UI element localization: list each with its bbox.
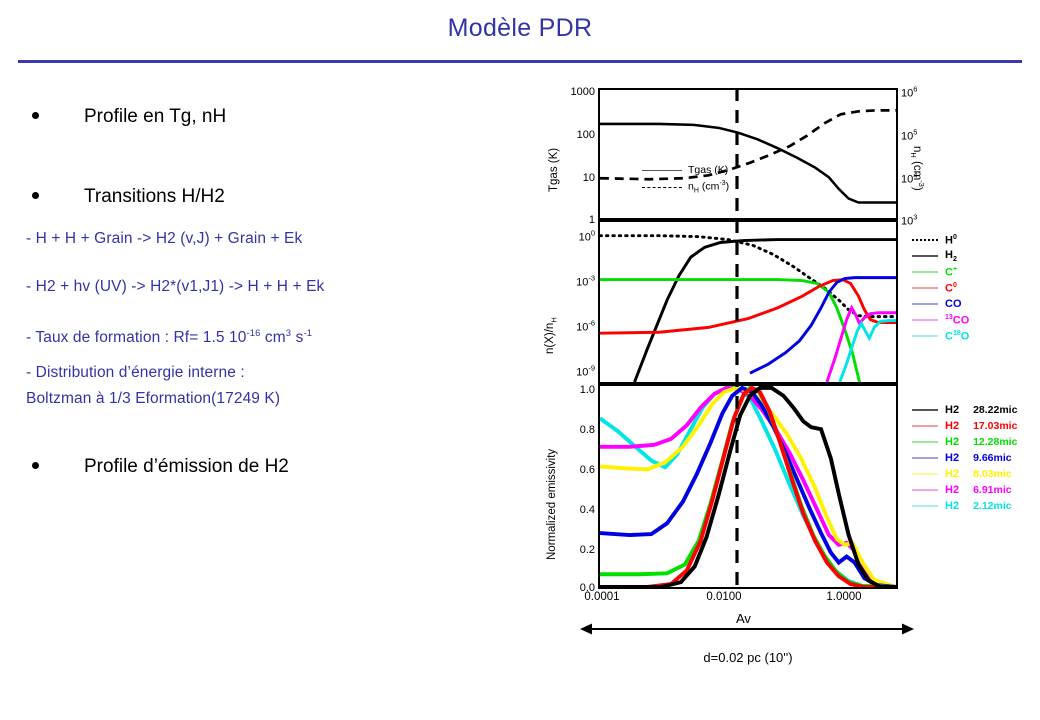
ytick-top-right-1e6: 106 (901, 85, 917, 100)
legend-entry-h2-212: H2 2.12mic (912, 498, 1017, 514)
formation-rate-line: - Taux de formation : Rf= 1.5 10-16 cm3 … (26, 328, 312, 347)
boltzman-line: Boltzman à 1/3 Eformation(17249 K) (26, 390, 280, 408)
series-13co-line (827, 308, 896, 382)
legend-swatch-h2-803-icon (912, 473, 938, 475)
legend-entry-h2-691: H2 6.91mic (912, 482, 1017, 498)
legend-entry-c0: C0 (912, 280, 969, 296)
ytick-top-1000: 1000 (571, 86, 595, 98)
legend-swatch-c0-icon (912, 287, 938, 289)
panel-mid-plot-area (600, 222, 896, 382)
legend-entry-h2: H2 (912, 248, 969, 264)
page-title: Modèle PDR (0, 14, 1040, 43)
legend-swatch-c18o-icon (912, 335, 938, 337)
bullet-item-profile-tg-nh: Profile en Tg, nH (32, 106, 226, 128)
chart-panel-abundances: 100 10-3 10-6 10-9 (598, 220, 898, 384)
figure-caption: d=0.02 pc (10'') (598, 650, 898, 665)
formation-rate-prefix: - Taux de formation : Rf= 1.5 10 (26, 329, 246, 346)
legend-entry-h2-1228: H2 12.28mic (912, 434, 1017, 450)
legend-swatch-h2-1703-icon (912, 425, 938, 427)
legend-value-h2-212: 2.12mic (973, 500, 1012, 512)
ytick-mid-1e0: 100 (579, 229, 595, 244)
axis-label-nh-right: nH (cm-3) (909, 146, 926, 191)
legend-entry-h2-1703: H2 17.03mic (912, 418, 1017, 434)
legend-label-h2-966: H2 (945, 452, 959, 464)
chart-panel-emissivity: 1.0 0.8 0.6 0.4 0.2 0.0 0.0001 0.0100 1.… (598, 384, 898, 589)
slide-root: Modèle PDR Profile en Tg, nH Transitions… (0, 0, 1040, 720)
legend-label-13co: 13CO (945, 314, 969, 327)
ytick-bot-0p8: 0.8 (580, 424, 595, 436)
ytick-top-right-1e3: 103 (901, 213, 917, 228)
formation-rate-s-exponent: -1 (303, 328, 312, 339)
legend-entry-13co: 13CO (912, 312, 969, 328)
axis-label-emissivity: Normalized emissivity (546, 449, 558, 560)
legend-swatch-h2-212-icon (912, 505, 938, 507)
legend-swatch-dashed-icon (642, 187, 682, 188)
ytick-top-100: 100 (577, 129, 595, 141)
xtick-0p0001: 0.0001 (584, 591, 619, 603)
legend-entry-h2-966: H2 9.66mic (912, 450, 1017, 466)
axis-label-abundance: n(X)/nH (544, 317, 558, 354)
legend-entry-cplus: C+ (912, 264, 969, 280)
legend-label-cplus: C+ (945, 266, 957, 279)
panel-bottom-svg (600, 386, 896, 587)
formation-rate-exponent: -16 (246, 328, 260, 339)
bullet-label: Transitions H/H2 (84, 186, 225, 208)
ytick-bot-0p4: 0.4 (580, 504, 595, 516)
bullet-dot-icon (32, 112, 39, 119)
legend-entry-tgas: Tgas (K) (642, 164, 729, 177)
legend-swatch-h2-691-icon (912, 489, 938, 491)
panel-top-svg (600, 90, 896, 218)
panel-mid-legend: H0 H2 C+ C0 CO 13CO (912, 232, 969, 344)
bullet-label: Profile d’émission de H2 (84, 456, 289, 478)
ytick-top-right-1e5: 105 (901, 128, 917, 143)
pdr-model-figure: 1000 100 10 1 106 105 104 103 Tgas (K) n… (524, 84, 1024, 674)
legend-label-h2-1228: H2 (945, 436, 959, 448)
reaction-line-formation: - H + H + Grain -> H2 (v,J) + Grain + Ek (26, 230, 302, 248)
ytick-top-1: 1 (589, 214, 595, 226)
legend-swatch-h0-icon (912, 239, 938, 241)
axis-label-tgas: Tgas (K) (548, 148, 560, 192)
bullet-dot-icon (32, 462, 39, 469)
legend-label-h2-1703: H2 (945, 420, 959, 432)
panel-mid-svg (600, 222, 896, 382)
series-h2-803-line (600, 388, 896, 587)
legend-label-h2-212: H2 (945, 500, 959, 512)
bullet-item-transitions: Transitions H/H2 (32, 186, 225, 208)
legend-swatch-h2-icon (912, 255, 938, 257)
legend-label-h0: H0 (945, 234, 957, 247)
legend-swatch-solid-icon (642, 170, 682, 171)
series-h2-1703-line (600, 388, 896, 587)
bullet-item-emission-profile: Profile d’émission de H2 (32, 456, 289, 478)
series-h2-212-line (600, 388, 896, 587)
xtick-0p0100: 0.0100 (706, 591, 741, 603)
energy-distribution-line: - Distribution d’énergie interne : (26, 364, 245, 382)
ytick-bot-1p0: 1.0 (580, 384, 595, 396)
legend-entry-co: CO (912, 296, 969, 312)
series-c18o-line (840, 321, 896, 382)
legend-label-c18o: C18O (945, 330, 969, 343)
series-co-line (750, 278, 896, 374)
formation-rate-unit-cm: cm (261, 329, 286, 346)
series-h2-1228-line (600, 388, 896, 587)
legend-value-h2-803: 8.03mic (973, 468, 1012, 480)
legend-swatch-h2-2822-icon (912, 409, 938, 411)
title-divider (18, 60, 1022, 63)
panel-top-plot-area (600, 90, 896, 218)
legend-label-co: CO (945, 298, 962, 310)
content-text-column: Profile en Tg, nH Transitions H/H2 - H +… (22, 102, 522, 522)
ytick-bot-0p2: 0.2 (580, 544, 595, 556)
legend-swatch-13co-icon (912, 319, 938, 321)
panel-bottom-legend: H2 28.22mic H2 17.03mic H2 12.28mic H2 9… (912, 402, 1017, 514)
extent-double-arrow-icon (580, 622, 914, 636)
legend-entry-c18o: C18O (912, 328, 969, 344)
legend-value-h2-691: 6.91mic (973, 484, 1012, 496)
bullet-dot-icon (32, 192, 39, 199)
legend-label-h2-691: H2 (945, 484, 959, 496)
panel-bottom-plot-area (600, 386, 896, 587)
legend-label-c0: C0 (945, 282, 957, 295)
legend-entry-h2-803: H2 8.03mic (912, 466, 1017, 482)
series-h0-line (600, 236, 896, 317)
legend-value-h2-966: 9.66mic (973, 452, 1012, 464)
legend-label-h2-803: H2 (945, 468, 959, 480)
ytick-mid-1e-3: 10-3 (576, 274, 595, 289)
xtick-1p0000: 1.0000 (826, 591, 861, 603)
legend-label-nh: nH (cm-3) (688, 177, 729, 198)
formation-rate-unit-s: s (291, 329, 303, 346)
legend-label-tgas: Tgas (K) (688, 164, 728, 177)
series-h2-966-line (600, 388, 896, 587)
legend-swatch-h2-1228-icon (912, 441, 938, 443)
legend-swatch-co-icon (912, 303, 938, 305)
ytick-bot-0p6: 0.6 (580, 464, 595, 476)
legend-entry-nh: nH (cm-3) (642, 177, 729, 198)
ytick-top-10: 10 (583, 172, 595, 184)
legend-value-h2-1703: 17.03mic (973, 420, 1017, 432)
legend-label-h2: H2 (945, 249, 957, 263)
panel-top-legend: Tgas (K) nH (cm-3) (642, 164, 729, 198)
bullet-label: Profile en Tg, nH (84, 106, 226, 128)
legend-label-h2-2822: H2 (945, 404, 959, 416)
legend-entry-h2-2822: H2 28.22mic (912, 402, 1017, 418)
legend-value-h2-1228: 12.28mic (973, 436, 1017, 448)
legend-swatch-cplus-icon (912, 271, 938, 273)
reaction-line-photodissociation: - H2 + hv (UV) -> H2*(v1,J1) -> H + H + … (26, 278, 324, 296)
chart-panel-temperature-density: 1000 100 10 1 106 105 104 103 Tgas (K) n… (598, 88, 898, 220)
legend-value-h2-2822: 28.22mic (973, 404, 1017, 416)
legend-swatch-h2-966-icon (912, 457, 938, 459)
ytick-mid-1e-9: 10-9 (576, 364, 595, 379)
ytick-mid-1e-6: 10-6 (576, 319, 595, 334)
series-h2-691-line (600, 388, 896, 587)
series-h2-2822-line (600, 388, 896, 587)
legend-entry-h0: H0 (912, 232, 969, 248)
